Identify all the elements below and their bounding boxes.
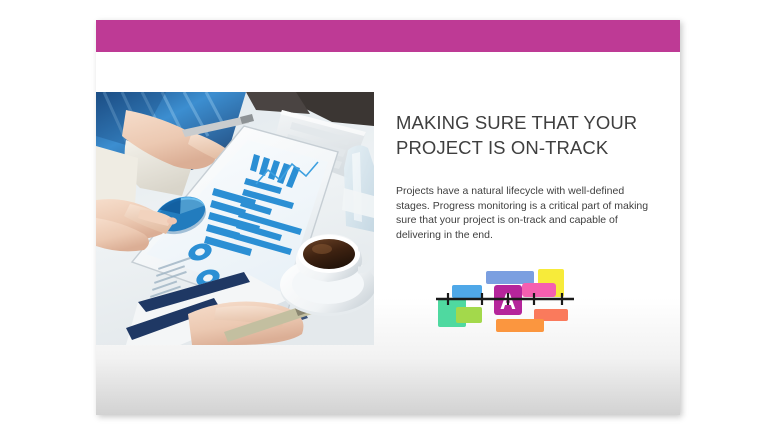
slide-body-text: Projects have a natural lifecycle with w… — [396, 184, 650, 242]
tablet-photo — [96, 92, 374, 345]
blue-bar-left — [452, 285, 482, 298]
screenshot-stage: MAKING SURE THAT YOUR PROJECT IS ON-TRAC… — [0, 0, 770, 440]
text-column: MAKING SURE THAT YOUR PROJECT IS ON-TRAC… — [396, 110, 650, 242]
orange-bar — [496, 319, 544, 332]
slide-header-band — [96, 20, 680, 52]
slide-headline: MAKING SURE THAT YOUR PROJECT IS ON-TRAC… — [396, 110, 650, 160]
lime-bar — [456, 307, 482, 323]
blue-bar-top — [486, 271, 534, 284]
pink-bar — [522, 283, 556, 297]
project-timeline-graphic: A — [434, 265, 576, 337]
presentation-slide: MAKING SURE THAT YOUR PROJECT IS ON-TRAC… — [96, 20, 680, 415]
